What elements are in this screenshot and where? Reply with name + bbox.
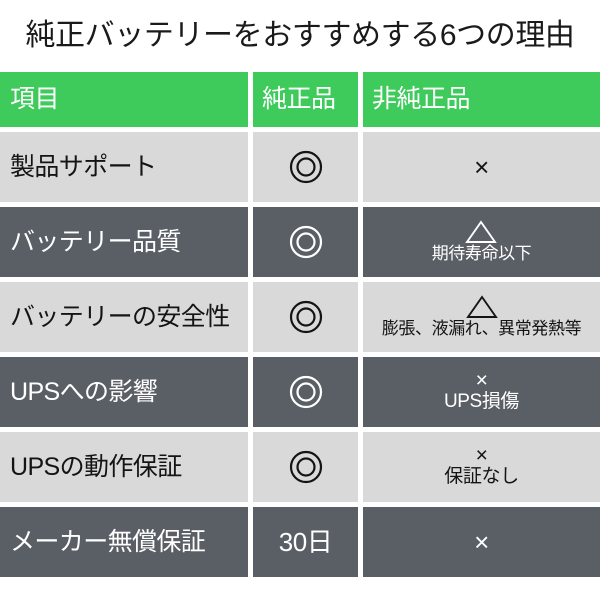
table-row: 製品サポート ×	[0, 132, 600, 202]
row-non-genuine-cell: × UPS損傷	[363, 357, 600, 427]
row-item-cell: UPSへの影響	[0, 357, 248, 427]
table-row: UPSへの影響 × UPS損傷	[0, 357, 600, 427]
row-item-label: 製品サポート	[10, 155, 156, 180]
row-non-genuine-cell: 期待寿命以下	[363, 207, 600, 277]
row-genuine-cell	[253, 207, 358, 277]
row-non-genuine-cell: 膨張、液漏れ、異常発熱等	[363, 282, 600, 352]
row-item-cell: バッテリーの安全性	[0, 282, 248, 352]
double-circle-icon	[289, 300, 323, 334]
comparison-infographic: 純正バッテリーをおすすめする6つの理由 項目 純正品 非純正品 製品サポート	[0, 0, 600, 600]
cross-icon: ×	[474, 154, 489, 180]
row-item-label: バッテリーの安全性	[10, 305, 230, 330]
row-non-genuine-note: 膨張、液漏れ、異常発熱等	[382, 320, 581, 338]
triangle-icon	[465, 219, 497, 244]
header-cell-non-genuine: 非純正品	[363, 72, 600, 127]
row-non-genuine-note: UPS損傷	[444, 392, 519, 413]
row-non-genuine-cell: ×	[363, 507, 600, 577]
double-circle-icon	[289, 225, 323, 259]
row-item-cell: UPSの動作保証	[0, 432, 248, 502]
row-genuine-cell	[253, 432, 358, 502]
cross-icon: ×	[476, 445, 488, 466]
row-item-cell: メーカー無償保証	[0, 507, 248, 577]
table-row: バッテリーの安全性 膨張、液漏れ、異常発熱等	[0, 282, 600, 352]
mark-stack: 膨張、液漏れ、異常発熱等	[382, 294, 581, 338]
row-genuine-cell	[253, 282, 358, 352]
page-title: 純正バッテリーをおすすめする6つの理由	[0, 0, 600, 72]
mark-stack: ×	[474, 529, 489, 555]
header-label-non-genuine: 非純正品	[363, 87, 470, 112]
table-header-row: 項目 純正品 非純正品	[0, 72, 600, 127]
cross-icon: ×	[474, 529, 489, 555]
row-non-genuine-note: 保証なし	[444, 467, 518, 488]
row-non-genuine-cell: × 保証なし	[363, 432, 600, 502]
row-item-label: UPSへの影響	[10, 380, 157, 405]
triangle-icon	[466, 294, 498, 319]
table-row: バッテリー品質 期待寿命以下	[0, 207, 600, 277]
mark-stack: ×	[474, 154, 489, 180]
comparison-table: 項目 純正品 非純正品 製品サポート	[0, 72, 600, 577]
mark-stack: × UPS損傷	[444, 370, 519, 413]
table-row: メーカー無償保証 30日 ×	[0, 507, 600, 577]
mark-stack: × 保証なし	[444, 445, 518, 488]
mark-stack: 期待寿命以下	[432, 219, 532, 263]
double-circle-icon	[289, 450, 323, 484]
page-title-text: 純正バッテリーをおすすめする6つの理由	[25, 20, 574, 52]
header-cell-item: 項目	[0, 72, 248, 127]
row-non-genuine-note: 期待寿命以下	[432, 245, 532, 263]
row-item-cell: 製品サポート	[0, 132, 248, 202]
row-item-label: バッテリー品質	[10, 230, 181, 255]
row-item-label: メーカー無償保証	[10, 530, 205, 555]
header-label-item: 項目	[10, 87, 59, 112]
double-circle-icon	[289, 150, 323, 184]
row-non-genuine-cell: ×	[363, 132, 600, 202]
table-row: UPSの動作保証 × 保証なし	[0, 432, 600, 502]
row-genuine-cell: 30日	[253, 507, 358, 577]
double-circle-icon	[289, 375, 323, 409]
warranty-period-value: 30日	[279, 529, 332, 555]
row-item-cell: バッテリー品質	[0, 207, 248, 277]
header-cell-genuine: 純正品	[253, 72, 358, 127]
row-genuine-cell	[253, 132, 358, 202]
row-item-label: UPSの動作保証	[10, 455, 182, 480]
header-label-genuine: 純正品	[253, 87, 336, 112]
row-genuine-cell	[253, 357, 358, 427]
cross-icon: ×	[476, 370, 488, 391]
